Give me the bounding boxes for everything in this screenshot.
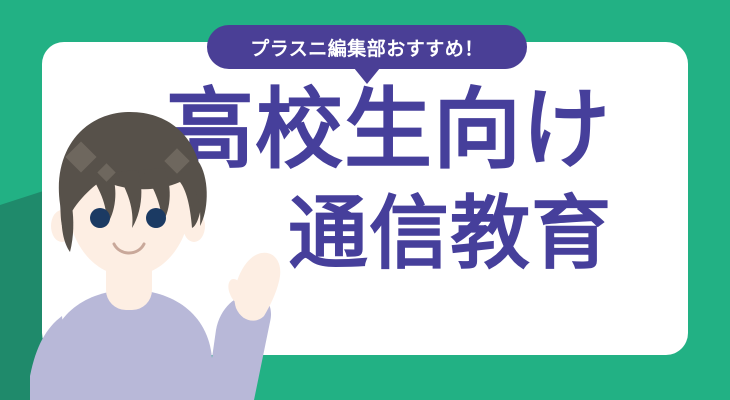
student-illustration-svg	[30, 108, 320, 400]
recommendation-badge-label: プラスニ編集部おすすめ！	[250, 34, 484, 61]
promo-banner: プラスニ編集部おすすめ！ 高校生向け 通信教育	[0, 0, 730, 400]
badge-tail-triangle	[354, 68, 380, 84]
recommendation-badge: プラスニ編集部おすすめ！	[207, 25, 527, 69]
eye-right	[146, 208, 166, 228]
eye-left	[90, 208, 110, 228]
hair-side-left	[61, 206, 73, 252]
hand-shape	[234, 253, 280, 321]
student-illustration	[30, 108, 320, 400]
